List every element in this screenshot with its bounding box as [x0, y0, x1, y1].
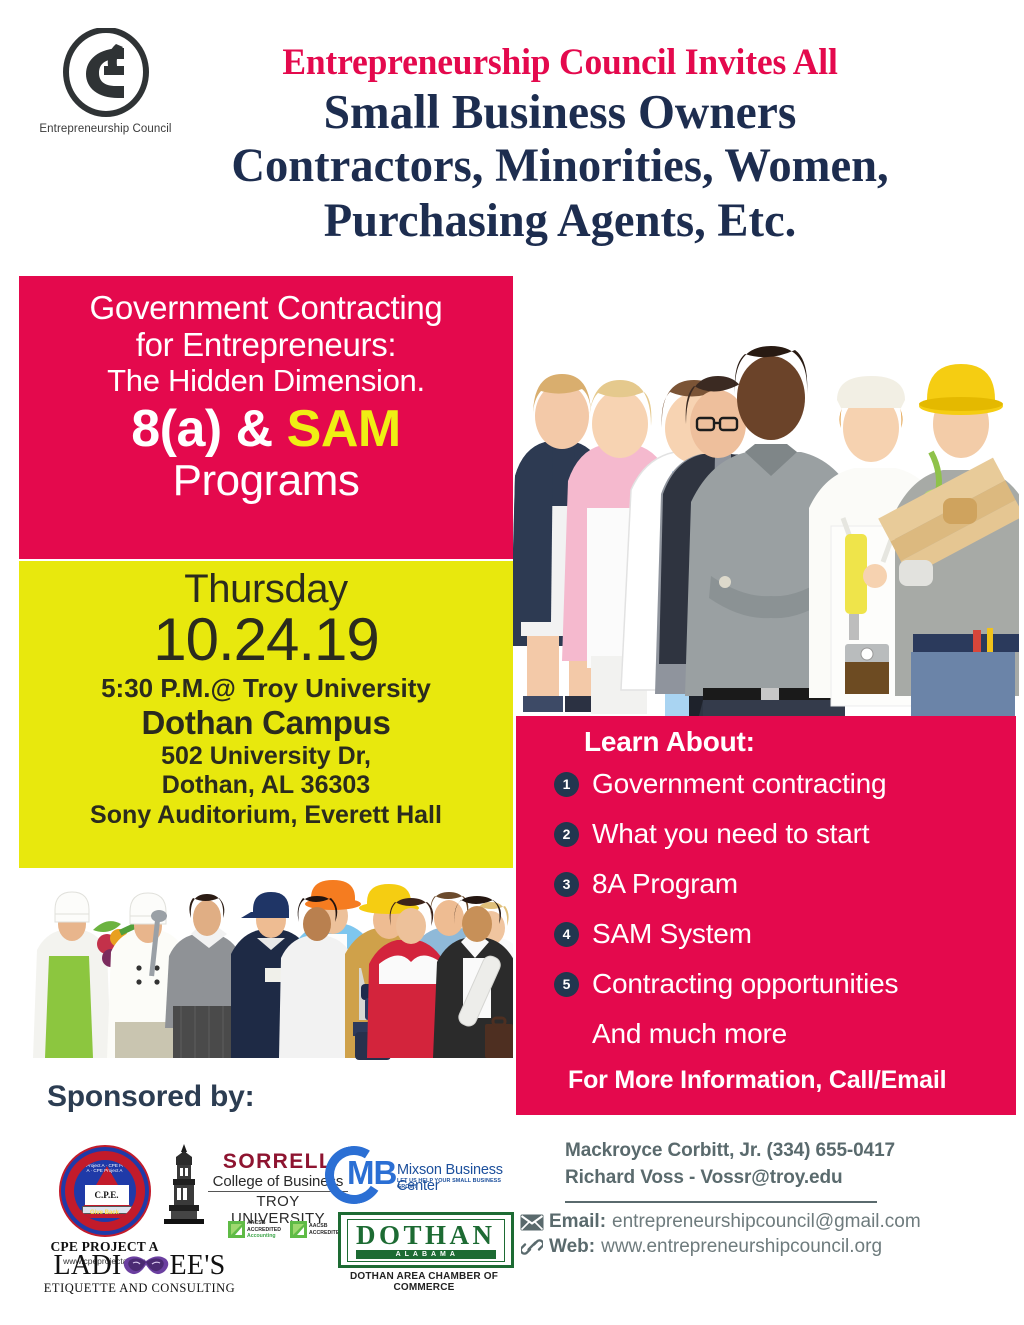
- title-sam-text: SAM: [287, 400, 401, 458]
- list-item: 2 What you need to start: [516, 812, 1016, 856]
- event-address-line-2: Dothan, AL 36303: [29, 771, 503, 800]
- title-programs-word: Programs: [35, 458, 497, 504]
- web-value[interactable]: www.entrepreneurshipcouncil.org: [601, 1235, 882, 1260]
- badge-line-3: Accounting: [247, 1233, 281, 1240]
- aacsb-badge-icon: [228, 1221, 245, 1238]
- dothan-word: DOTHAN: [356, 1223, 496, 1249]
- bullet-number: [554, 1022, 579, 1047]
- title-8a-text: 8(a) &: [131, 400, 286, 458]
- event-time-venue: 5:30 P.M.@ Troy University: [29, 673, 503, 704]
- contact-person-1: Mackroyce Corbitt, Jr. (334) 655-0417: [565, 1138, 1018, 1165]
- dothan-badge-inner: DOTHAN ALABAMA: [347, 1219, 505, 1262]
- list-item: 5 Contracting opportunities: [516, 962, 1016, 1006]
- poster-header: Entrepreneurship Council Entrepreneurshi…: [0, 0, 1024, 272]
- header-line-3: Contractors, Minorities, Women,: [124, 140, 997, 193]
- bullet-number: 2: [554, 822, 579, 847]
- list-item: And much more: [516, 1012, 1016, 1056]
- contact-web-row[interactable]: Web: www.entrepreneurshipcouncil.org: [515, 1235, 1018, 1260]
- list-item-label: Contracting opportunities: [592, 970, 898, 998]
- sponsor-logos: C.P.E. Give Back CPE Project A · CPE Pro…: [20, 1140, 510, 1315]
- list-item: 1 Government contracting: [516, 762, 1016, 806]
- cpe-seal-center-text: C.P.E.: [85, 1185, 129, 1205]
- event-campus: Dothan Campus: [29, 704, 503, 742]
- email-label: Email:: [549, 1210, 606, 1235]
- cpe-project-a-logo: C.P.E. Give Back CPE Project A · CPE Pro…: [42, 1145, 167, 1266]
- contact-divider: [565, 1201, 877, 1203]
- contact-block: Mackroyce Corbitt, Jr. (334) 655-0417 Ri…: [513, 1138, 1018, 1259]
- masquerade-mask-icon: [123, 1255, 169, 1277]
- event-address-line-1: 502 University Dr,: [29, 742, 503, 771]
- aacsb-accounting-badge: AACSB ACCREDITED Accounting: [228, 1220, 281, 1240]
- bullet-number: 4: [554, 922, 579, 947]
- mbc-monogram: MB: [347, 1154, 396, 1192]
- learn-about-list: 1 Government contracting 2 What you need…: [516, 762, 1016, 1056]
- header-line-2: Small Business Owners: [124, 86, 997, 138]
- flyer-poster: Entrepreneurship Council Entrepreneurshi…: [0, 0, 1024, 1325]
- list-item: 3 8A Program: [516, 862, 1016, 906]
- header-line-1: Entrepreneurship Council Invites All: [128, 44, 992, 82]
- cpe-seal-arc-text: CPE Project A · CPE Project A · CPE Proj…: [74, 1163, 136, 1173]
- dothan-chamber-name: DOTHAN AREA CHAMBER OF COMMERCE: [338, 1271, 510, 1293]
- bullet-number: 5: [554, 972, 579, 997]
- header-text-group: Entrepreneurship Council Invites All Sma…: [110, 44, 1010, 248]
- title-line-2: for Entrepreneurs:: [35, 327, 497, 364]
- ladi-vees-left: LADI: [53, 1252, 121, 1280]
- aacsb-badge-label: AACSB ACCREDITED Accounting: [247, 1220, 281, 1240]
- list-item-label: And much more: [592, 1020, 787, 1048]
- title-line-3: The Hidden Dimension.: [35, 364, 497, 399]
- event-datetime-block: Thursday 10.24.19 5:30 P.M.@ Troy Univer…: [19, 561, 513, 868]
- list-item-label: What you need to start: [592, 820, 869, 848]
- learn-about-title: Learn About:: [584, 726, 1016, 758]
- event-date: 10.24.19: [29, 610, 503, 670]
- link-icon: [515, 1237, 549, 1257]
- bullet-number: 1: [554, 772, 579, 797]
- ladi-vees-right: EE'S: [170, 1252, 226, 1280]
- cpe-seal-icon: C.P.E. Give Back CPE Project A · CPE Pro…: [59, 1145, 151, 1237]
- envelope-icon: [515, 1214, 549, 1231]
- sponsored-by-heading: Sponsored by:: [47, 1080, 254, 1114]
- accreditation-badges: AACSB ACCREDITED Accounting AAC: [228, 1220, 343, 1240]
- call-to-action: For More Information, Call/Email: [568, 1066, 1016, 1095]
- list-item: 4 SAM System: [516, 912, 1016, 956]
- email-value[interactable]: entrepreneurshipcouncil@gmail.com: [612, 1210, 921, 1235]
- dothan-chamber-logo: DOTHAN ALABAMA DOTHAN AREA CHAMBER OF CO…: [338, 1212, 510, 1293]
- ladi-vees-tagline: ETIQUETTE AND CONSULTING: [32, 1281, 247, 1296]
- list-item-label: SAM System: [592, 920, 752, 948]
- event-room: Sony Auditorium, Everett Hall: [29, 800, 503, 830]
- bell-tower-icon: [160, 1142, 208, 1224]
- aacsb-accredited-badge: AACSB ACCREDITED: [290, 1220, 343, 1240]
- dothan-badge: DOTHAN ALABAMA: [338, 1212, 514, 1268]
- ladi-vees-name: LADI EE'S: [32, 1252, 247, 1280]
- workers-group-photo: [19, 872, 513, 1080]
- learn-about-block: Learn About: 1 Government contracting 2 …: [516, 716, 1016, 1115]
- aacsb-badge-icon: [290, 1221, 307, 1238]
- dothan-state: ALABAMA: [356, 1250, 496, 1259]
- cpe-seal-bottom-text: Give Back: [74, 1210, 136, 1216]
- professionals-group-photo: [513, 276, 1019, 716]
- ladi-vees-logo: LADI EE'S ETIQUETTE AND CONSULTING: [32, 1252, 247, 1296]
- bullet-number: 3: [554, 872, 579, 897]
- list-item-label: 8A Program: [592, 870, 738, 898]
- contact-person-2: Richard Voss - Vossr@troy.edu: [565, 1165, 1018, 1192]
- mbc-tagline: LET US HELP YOUR SMALL BUSINESS GROW!: [397, 1178, 510, 1190]
- web-label: Web:: [549, 1235, 595, 1260]
- header-line-4: Purchasing Agents, Etc.: [124, 195, 997, 248]
- title-line-1: Government Contracting: [35, 290, 497, 327]
- list-item-label: Government contracting: [592, 770, 886, 798]
- title-programs-headline: 8(a) & SAM: [35, 400, 497, 458]
- contact-email-row[interactable]: Email: entrepreneurshipcouncil@gmail.com: [515, 1210, 1018, 1235]
- event-title-block: Government Contracting for Entrepreneurs…: [19, 276, 513, 559]
